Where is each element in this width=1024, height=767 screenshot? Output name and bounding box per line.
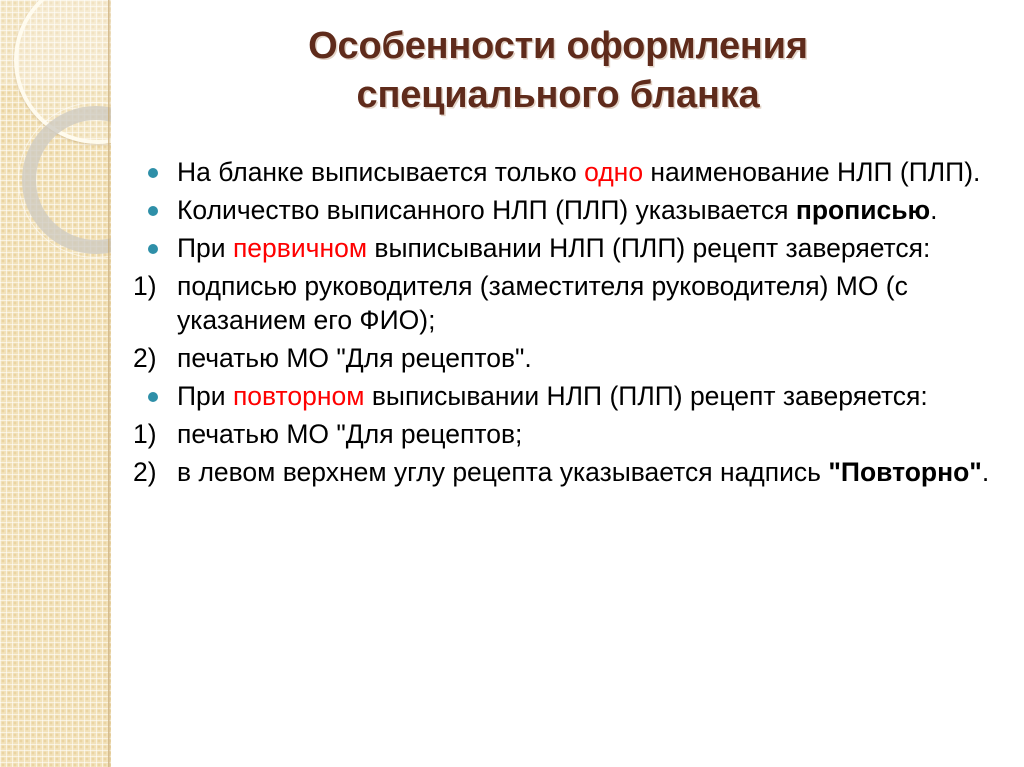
- text-segment: наименование НЛП (ПЛП).: [643, 157, 980, 187]
- page-title: Особенности оформления специального блан…: [128, 22, 988, 120]
- numbered-list-item: 1)печатью МО "Для рецептов;: [123, 417, 1003, 451]
- bulleted-list-item: При повторном выписывании НЛП (ПЛП) реце…: [123, 379, 1003, 413]
- text-segment: выписывании НЛП (ПЛП) рецепт заверяется:: [364, 381, 927, 411]
- list-item-text: На бланке выписывается только одно наиме…: [177, 157, 980, 187]
- list-item-text: При повторном выписывании НЛП (ПЛП) реце…: [177, 381, 928, 411]
- bullet-dot-icon: [148, 168, 158, 178]
- bullet-dot-icon: [148, 244, 158, 254]
- list-item-number: 1): [133, 417, 177, 451]
- list-item-text: печатью МО "Для рецептов;: [177, 419, 522, 449]
- text-segment: повторном: [233, 381, 365, 411]
- list-item-text: в левом верхнем углу рецепта указывается…: [177, 457, 989, 487]
- text-segment: выписывании НЛП (ПЛП) рецепт заверяется:: [367, 233, 930, 263]
- content-list: На бланке выписывается только одно наиме…: [123, 155, 1003, 493]
- text-segment: прописью: [796, 195, 930, 225]
- text-segment: "Повторно": [828, 457, 982, 487]
- text-segment: На бланке выписывается только: [177, 157, 584, 187]
- page-title-line-1: Особенности оформления: [128, 22, 988, 71]
- text-segment: .: [982, 457, 989, 487]
- text-segment: .: [930, 195, 937, 225]
- list-item-text: подписью руководителя (заместителя руков…: [177, 271, 908, 335]
- list-item-number: 2): [133, 455, 177, 489]
- text-segment: печатью МО "Для рецептов;: [177, 419, 522, 449]
- bulleted-list-item: На бланке выписывается только одно наиме…: [123, 155, 1003, 189]
- slide: Особенности оформления специального блан…: [0, 0, 1024, 767]
- list-item-number: 2): [133, 341, 177, 375]
- text-segment: первичном: [233, 233, 367, 263]
- text-segment: При: [177, 381, 233, 411]
- list-item-number: 1): [133, 269, 177, 303]
- gray-ring-icon: [22, 106, 111, 254]
- numbered-list-item: 2)печатью МО "Для рецептов".: [123, 341, 1003, 375]
- text-segment: печатью МО "Для рецептов".: [177, 343, 532, 373]
- decorative-side-panel: [0, 0, 111, 767]
- text-segment: Количество выписанного НЛП (ПЛП) указыва…: [177, 195, 796, 225]
- bulleted-list-item: При первичном выписывании НЛП (ПЛП) реце…: [123, 231, 1003, 265]
- text-segment: подписью руководителя (заместителя руков…: [177, 271, 908, 335]
- page-title-line-2: специального бланка: [128, 71, 988, 120]
- list-item-text: При первичном выписывании НЛП (ПЛП) реце…: [177, 233, 930, 263]
- bullet-dot-icon: [148, 392, 158, 402]
- bulleted-list-item: Количество выписанного НЛП (ПЛП) указыва…: [123, 193, 1003, 227]
- numbered-list-item: 1)подписью руководителя (заместителя рук…: [123, 269, 1003, 337]
- text-segment: одно: [584, 157, 643, 187]
- slide-content: Особенности оформления специального блан…: [111, 0, 1024, 767]
- numbered-list-item: 2)в левом верхнем углу рецепта указывает…: [123, 455, 1003, 489]
- text-segment: в левом верхнем углу рецепта указывается…: [177, 457, 828, 487]
- bullet-dot-icon: [148, 206, 158, 216]
- text-segment: При: [177, 233, 233, 263]
- list-item-text: печатью МО "Для рецептов".: [177, 343, 532, 373]
- list-item-text: Количество выписанного НЛП (ПЛП) указыва…: [177, 195, 938, 225]
